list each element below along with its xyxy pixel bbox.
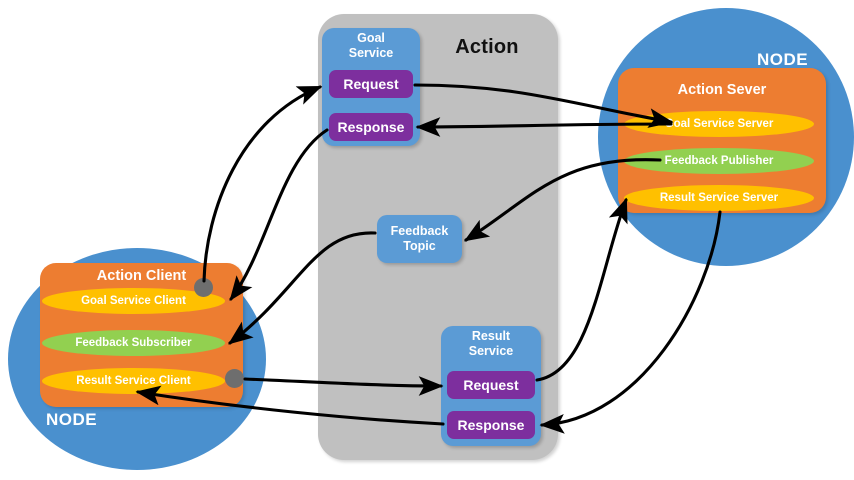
result-service-title: Result Service [441, 329, 541, 359]
goal-service-title-line1: Goal [357, 31, 385, 45]
pill-result-service-server[interactable]: Result Service Server [624, 185, 814, 211]
action-client-title: Action Client [40, 268, 243, 284]
result-service-client-connector-dot [225, 369, 244, 388]
pill-feedback-publisher[interactable]: Feedback Publisher [624, 148, 814, 174]
result-service-response-chip[interactable]: Response [447, 411, 535, 439]
goal-service-title: Goal Service [322, 31, 420, 61]
node-server-label: NODE [757, 50, 808, 70]
result-service-title-line2: Service [469, 344, 513, 358]
arrow-goal-response-to-goal-client [231, 130, 327, 299]
node-client-label: NODE [46, 410, 97, 430]
result-service-request-chip[interactable]: Request [447, 371, 535, 399]
pill-goal-service-server[interactable]: Goal Service Server [624, 111, 814, 137]
goal-service-client-connector-dot [194, 278, 213, 297]
diagram-canvas: Action Action Client Goal Service Client… [0, 0, 854, 480]
goal-service-request-chip[interactable]: Request [329, 70, 413, 98]
pill-feedback-subscriber[interactable]: Feedback Subscriber [42, 330, 225, 356]
pill-result-service-client[interactable]: Result Service Client [42, 368, 225, 394]
result-service-title-line1: Result [472, 329, 510, 343]
feedback-topic-line2: Topic [403, 239, 435, 253]
action-container-title: Action [432, 36, 542, 59]
arrow-client-dot-to-goal-request [204, 87, 320, 281]
feedback-topic-box[interactable]: Feedback Topic [377, 215, 462, 263]
feedback-topic-line1: Feedback [391, 224, 449, 238]
goal-service-response-chip[interactable]: Response [329, 113, 413, 141]
goal-service-title-line2: Service [349, 46, 393, 60]
action-server-title: Action Sever [618, 82, 826, 98]
